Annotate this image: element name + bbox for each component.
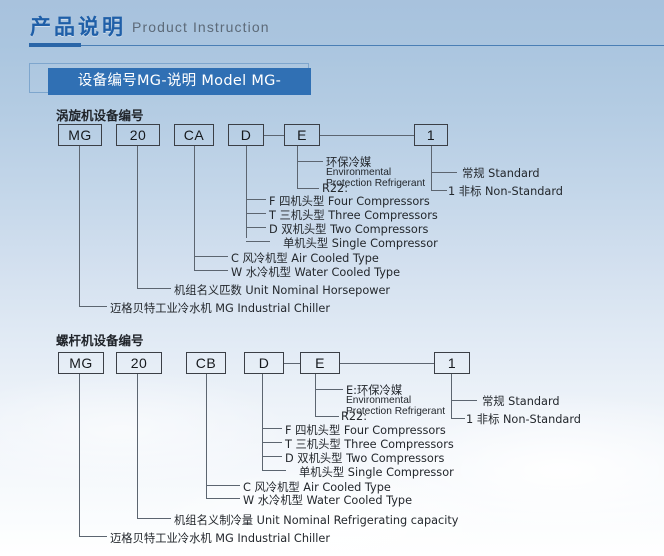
- diagram2-d-branch-single: [262, 470, 286, 471]
- diagram2-mg-branch: [79, 536, 107, 537]
- diagram2-label-brand: 迈格贝特工业冷水机 MG Industrial Chiller: [110, 530, 330, 546]
- diagram2-label-standard: 常规 Standard: [482, 393, 560, 409]
- diagram2-box-20: 20: [116, 352, 162, 374]
- diagram2-one-branch-std: [451, 400, 477, 401]
- diagram2-cb-branch-air: [206, 485, 240, 486]
- diagram2-label-water-cooled: W 水冷机型 Water Cooled Type: [243, 492, 412, 508]
- diagram2-e-stem: [315, 374, 316, 416]
- diagram2-cb-stem: [206, 374, 207, 498]
- diagram2-d-branch-dd: [262, 456, 282, 457]
- page-root: 产品说明 Product Instruction 设备编号MG-说明 Model…: [0, 0, 664, 556]
- diagram2-box-e: E: [300, 352, 340, 374]
- diagram2-20-stem: [137, 374, 138, 518]
- diagram-screw-chiller: 螺杆机设备编号 MG 20 CB D E 1 E:环保冷媒 Environmen…: [0, 0, 664, 556]
- diagram2-box-d: D: [244, 352, 284, 374]
- diagram2-cb-branch-water: [206, 498, 240, 499]
- diagram2-d-branch-f: [262, 428, 282, 429]
- diagram2-box-cb: CB: [186, 352, 226, 374]
- diagram2-e-branch-r22: [315, 416, 339, 417]
- diagram2-one-stem: [451, 374, 452, 418]
- diagram2-20-branch: [137, 518, 171, 519]
- diagram2-box-1: 1: [434, 352, 470, 374]
- diagram2-label-single-comp: 单机头型 Single Compressor: [299, 464, 454, 480]
- diagram2-box-mg: MG: [58, 352, 104, 374]
- diagram2-connector-d-e: [284, 363, 300, 364]
- diagram2-label-nonstandard: 1 非标 Non-Standard: [466, 411, 581, 427]
- diagram2-d-branch-t: [262, 442, 282, 443]
- diagram2-label-env-en1: Environmental: [346, 395, 411, 406]
- diagram2-e-branch-env: [315, 389, 343, 390]
- diagram2-mg-stem: [79, 374, 80, 536]
- diagram2-connector-e-1: [340, 363, 434, 364]
- diagram2-one-branch-nonstd: [451, 418, 465, 419]
- diagram2-label-capacity: 机组名义制冷量 Unit Nominal Refrigerating capac…: [174, 512, 459, 528]
- diagram2-title: 螺杆机设备编号: [56, 330, 144, 349]
